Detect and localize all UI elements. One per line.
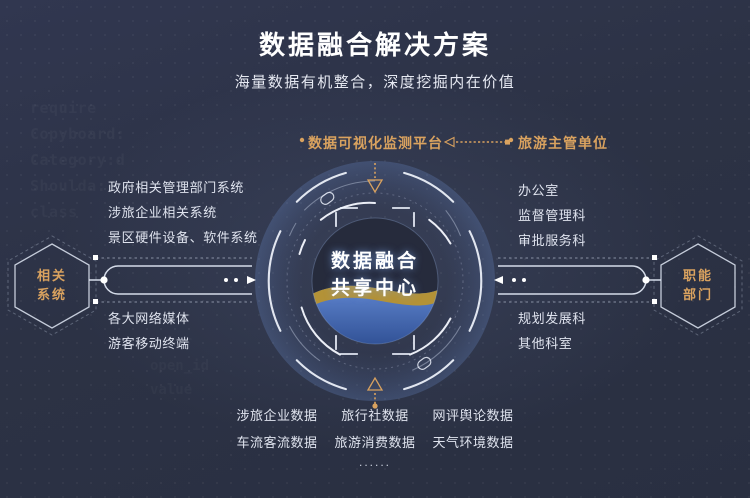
list-item: 景区硬件设备、软件系统	[108, 225, 258, 250]
list-item: 其他科室	[518, 331, 586, 356]
infographic-canvas: require Copyboard: Category:d Shoulda: c…	[0, 0, 750, 498]
hexagon-right-line1: 职能	[683, 266, 713, 285]
hexagon-left-line2: 系统	[37, 285, 67, 304]
list-item: 涉旅企业相关系统	[108, 200, 258, 225]
list-item: 监督管理科	[518, 203, 586, 228]
list-item: 天气环境数据	[425, 432, 521, 451]
list-item: 政府相关管理部门系统	[108, 175, 258, 200]
list-item: 旅游消费数据	[327, 432, 423, 451]
hexagon-related-systems[interactable]: 相关 系统	[8, 236, 96, 334]
bottom-ellipsis: ......	[0, 455, 750, 469]
list-item: 办公室	[518, 178, 586, 203]
hexagon-right-line2: 部门	[683, 285, 713, 304]
list-item: 车流客流数据	[229, 432, 325, 451]
list-right-top: 办公室 监督管理科 审批服务科	[518, 178, 586, 253]
hexagon-left-line1: 相关	[37, 266, 67, 285]
list-left-bottom: 各大网络媒体 游客移动终端	[108, 306, 190, 356]
list-item: 旅行社数据	[327, 405, 423, 424]
hexagon-left-text: 相关 系统	[8, 236, 96, 334]
list-item: 各大网络媒体	[108, 306, 190, 331]
list-item: 审批服务科	[518, 228, 586, 253]
list-item: 网评舆论数据	[425, 405, 521, 424]
hexagon-functional-departments[interactable]: 职能 部门	[654, 236, 742, 334]
list-right-bottom: 规划发展科 其他科室	[518, 306, 586, 356]
list-item: 涉旅企业数据	[229, 405, 325, 424]
list-item: 规划发展科	[518, 306, 586, 331]
list-left-top: 政府相关管理部门系统 涉旅企业相关系统 景区硬件设备、软件系统	[108, 175, 258, 250]
hexagon-right-text: 职能 部门	[654, 236, 742, 334]
list-item: 游客移动终端	[108, 331, 190, 356]
data-source-grid: 涉旅企业数据 旅行社数据 网评舆论数据 车流客流数据 旅游消费数据 天气环境数据	[229, 405, 521, 451]
